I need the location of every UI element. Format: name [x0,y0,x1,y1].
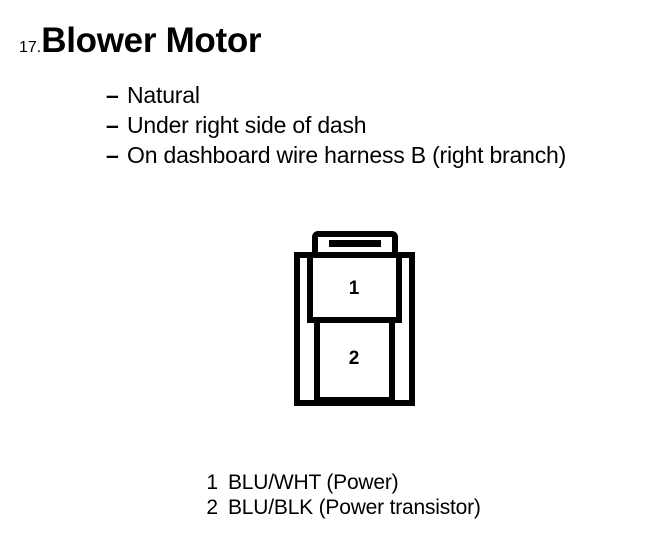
legend-terminal-number: 1 [196,470,218,495]
legend-terminal-number: 2 [196,495,218,520]
component-title: Blower Motor [41,23,261,58]
connector-diagram: 1 2 [286,228,422,410]
legend-wire-label: BLU/BLK (Power transistor) [228,495,481,520]
list-item-label: On dashboard wire harness B (right branc… [127,140,566,170]
page-title: 17. Blower Motor [19,23,639,71]
item-number: 17. [19,39,41,57]
legend-wire-label: BLU/WHT (Power) [228,470,398,495]
dash-icon: – [106,140,127,170]
list-item-label: Natural [127,80,200,110]
dash-icon: – [106,110,127,140]
legend-row: 1 BLU/WHT (Power) [196,470,596,495]
component-details-list: – Natural – Under right side of dash – O… [106,80,646,170]
terminal-number-2: 2 [349,348,360,369]
legend-row: 2 BLU/BLK (Power transistor) [196,495,596,520]
list-item: – Under right side of dash [106,110,646,140]
dash-icon: – [106,80,127,110]
list-item: – On dashboard wire harness B (right bra… [106,140,646,170]
terminal-legend: 1 BLU/WHT (Power) 2 BLU/BLK (Power trans… [196,470,596,520]
list-item: – Natural [106,80,646,110]
list-item-label: Under right side of dash [127,110,366,140]
terminal-number-1: 1 [349,278,360,299]
